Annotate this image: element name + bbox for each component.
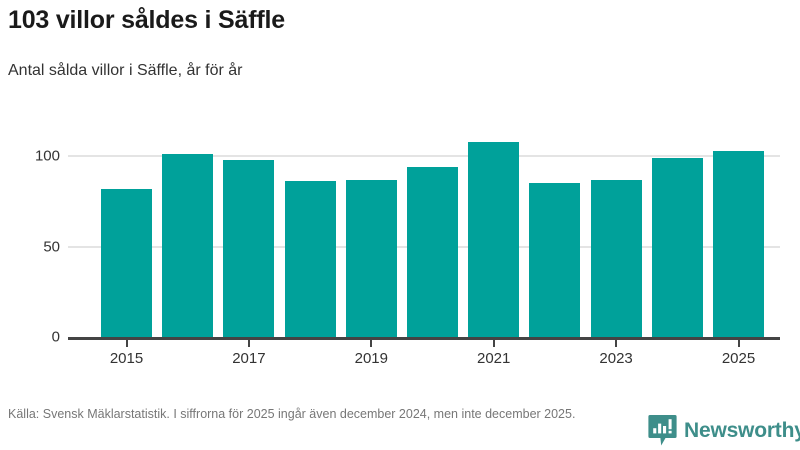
x-axis-tick-label: 2023 <box>599 350 632 367</box>
x-axis-tick <box>248 340 250 347</box>
x-axis-tick <box>126 340 128 347</box>
chart-subtitle: Antal sålda villor i Säffle, år för år <box>8 62 242 80</box>
x-axis-ticks <box>101 340 744 348</box>
bar-chart: 050100 201520172019202120232025 <box>0 120 800 380</box>
y-axis-tick-label: 0 <box>52 329 60 346</box>
bar[interactable] <box>591 180 642 337</box>
bar[interactable] <box>529 183 580 337</box>
bar[interactable] <box>652 158 703 337</box>
newsworthy-wordmark: Newsworthy <box>684 420 800 441</box>
x-axis-tick-label: 2017 <box>232 350 265 367</box>
bar-series <box>101 120 744 337</box>
bar[interactable] <box>346 180 397 337</box>
x-axis-tick-label: 2025 <box>722 350 755 367</box>
y-axis-labels: 050100 <box>0 120 60 337</box>
x-axis-tick-label: 2015 <box>110 350 143 367</box>
x-axis-labels: 201520172019202120232025 <box>101 350 744 374</box>
x-axis-tick-label: 2021 <box>477 350 510 367</box>
bar[interactable] <box>713 151 764 337</box>
y-axis-tick-label: 100 <box>35 148 60 165</box>
x-axis-tick-label: 2019 <box>355 350 388 367</box>
source-note: Källa: Svensk Mäklarstatistik. I siffror… <box>8 406 648 422</box>
x-axis-tick <box>738 340 740 347</box>
bar-chart-speech-bubble-icon <box>648 414 677 447</box>
x-axis-tick <box>493 340 495 347</box>
bar[interactable] <box>407 167 458 337</box>
bar[interactable] <box>468 142 519 337</box>
x-axis-tick <box>615 340 617 347</box>
bar[interactable] <box>223 160 274 337</box>
chart-page: 103 villor såldes i Säffle Antal sålda v… <box>0 0 800 450</box>
bar[interactable] <box>101 189 152 337</box>
bar[interactable] <box>162 154 213 337</box>
x-axis-tick <box>370 340 372 347</box>
page-title: 103 villor såldes i Säffle <box>8 6 285 35</box>
y-axis-tick-label: 50 <box>43 238 60 255</box>
newsworthy-logo[interactable]: Newsworthy <box>648 414 800 447</box>
bar[interactable] <box>285 181 336 337</box>
